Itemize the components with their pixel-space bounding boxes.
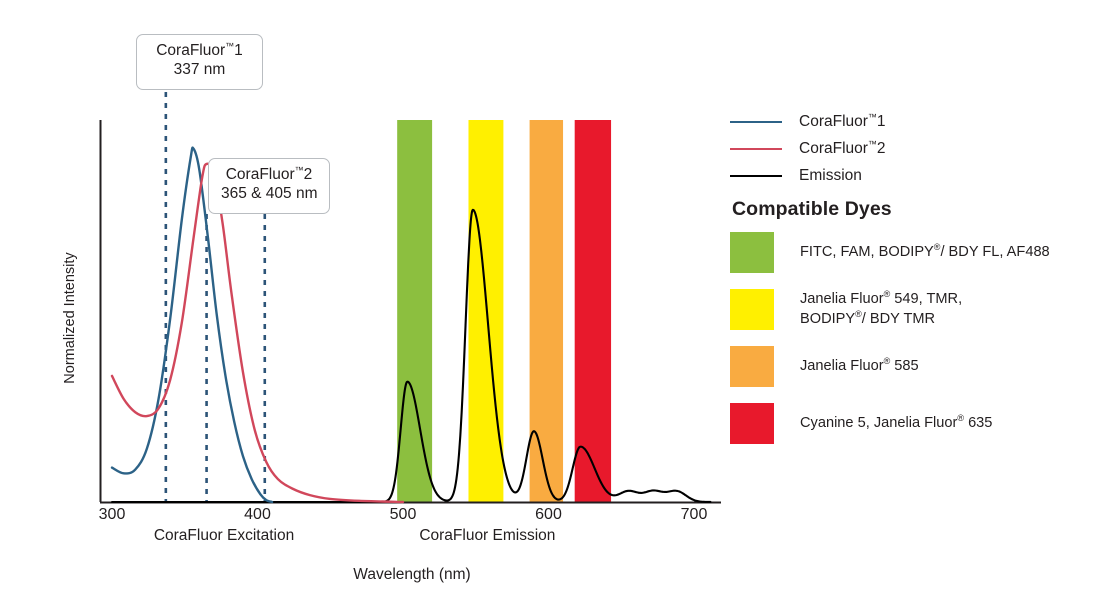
- callout-corafluor2: CoraFluor™2 365 & 405 nm: [208, 158, 330, 214]
- dye-row-2: Janelia Fluor® 585: [730, 346, 1090, 387]
- dye-color-swatch: [730, 346, 774, 387]
- green-band: [397, 120, 432, 502]
- x-axis-title: Wavelength (nm): [353, 566, 470, 584]
- trademark-icon: ™: [868, 111, 877, 121]
- legend-line-swatch: [730, 148, 782, 150]
- y-axis-title: Normalized Intensity: [62, 228, 78, 408]
- spectra-chart: CoraFluor™1 337 nm CoraFluor™2 365 & 405…: [0, 0, 730, 612]
- dye-row-0: FITC, FAM, BODIPY®/ BDY FL, AF488: [730, 232, 1090, 273]
- dye-label: Cyanine 5, Janelia Fluor® 635: [800, 414, 992, 433]
- registered-icon: ®: [855, 309, 862, 319]
- registered-icon: ®: [957, 413, 964, 423]
- dye-label-line: BODIPY®/ BDY TMR: [800, 310, 962, 329]
- registered-icon: ®: [934, 242, 941, 252]
- legend-label: CoraFluor™1: [799, 113, 886, 131]
- callout-corafluor2-name: CoraFluor™2: [221, 166, 317, 185]
- dye-label: Janelia Fluor® 549, TMR,BODIPY®/ BDY TMR: [800, 290, 962, 329]
- callout-corafluor1: CoraFluor™1 337 nm: [136, 34, 263, 90]
- dye-color-swatch: [730, 403, 774, 444]
- excitation-range-label: CoraFluor Excitation: [94, 527, 354, 545]
- dye-label: FITC, FAM, BODIPY®/ BDY FL, AF488: [800, 243, 1050, 262]
- registered-icon: ®: [884, 356, 891, 366]
- legend-line-swatch: [730, 121, 782, 123]
- callout-corafluor1-name: CoraFluor™1: [149, 42, 250, 61]
- legend-label: CoraFluor™2: [799, 140, 886, 158]
- legend-row-2: Emission: [730, 162, 1060, 189]
- red-band: [575, 120, 611, 502]
- series-legend: CoraFluor™1CoraFluor™2Emission: [730, 108, 1060, 189]
- legend-row-0: CoraFluor™1: [730, 108, 1060, 135]
- dye-label-line: Janelia Fluor® 549, TMR,: [800, 290, 962, 309]
- trademark-icon: ™: [225, 41, 234, 51]
- corafluor2-excitation-curve: [112, 164, 403, 502]
- legend-panel: CoraFluor™1CoraFluor™2Emission Compatibl…: [730, 0, 1110, 612]
- legend-line-swatch: [730, 175, 782, 177]
- callout-corafluor2-value: 365 & 405 nm: [221, 185, 317, 204]
- dye-row-3: Cyanine 5, Janelia Fluor® 635: [730, 403, 1090, 444]
- legend-label: Emission: [799, 167, 862, 185]
- dye-color-swatch: [730, 289, 774, 330]
- trademark-icon: ™: [295, 165, 304, 175]
- trademark-icon: ™: [868, 138, 877, 148]
- orange-band: [530, 120, 563, 502]
- chart-page: CoraFluor™1 337 nm CoraFluor™2 365 & 405…: [0, 0, 1110, 612]
- x-tick-700: 700: [664, 506, 724, 524]
- dye-label: Janelia Fluor® 585: [800, 357, 919, 376]
- dye-row-1: Janelia Fluor® 549, TMR,BODIPY®/ BDY TMR: [730, 289, 1090, 330]
- dye-band-group: [397, 120, 611, 502]
- dye-label-line: Cyanine 5, Janelia Fluor® 635: [800, 414, 992, 433]
- x-tick-300: 300: [82, 506, 142, 524]
- dye-color-swatch: [730, 232, 774, 273]
- x-tick-500: 500: [373, 506, 433, 524]
- compatible-dyes-list: FITC, FAM, BODIPY®/ BDY FL, AF488Janelia…: [730, 232, 1090, 460]
- x-tick-400: 400: [228, 506, 288, 524]
- x-tick-600: 600: [519, 506, 579, 524]
- callout-corafluor1-value: 337 nm: [149, 61, 250, 80]
- emission-range-label: CoraFluor Emission: [357, 527, 617, 545]
- dye-label-line: Janelia Fluor® 585: [800, 357, 919, 376]
- dye-label-line: FITC, FAM, BODIPY®/ BDY FL, AF488: [800, 243, 1050, 262]
- registered-icon: ®: [884, 289, 891, 299]
- compatible-dyes-heading: Compatible Dyes: [732, 198, 892, 221]
- legend-row-1: CoraFluor™2: [730, 135, 1060, 162]
